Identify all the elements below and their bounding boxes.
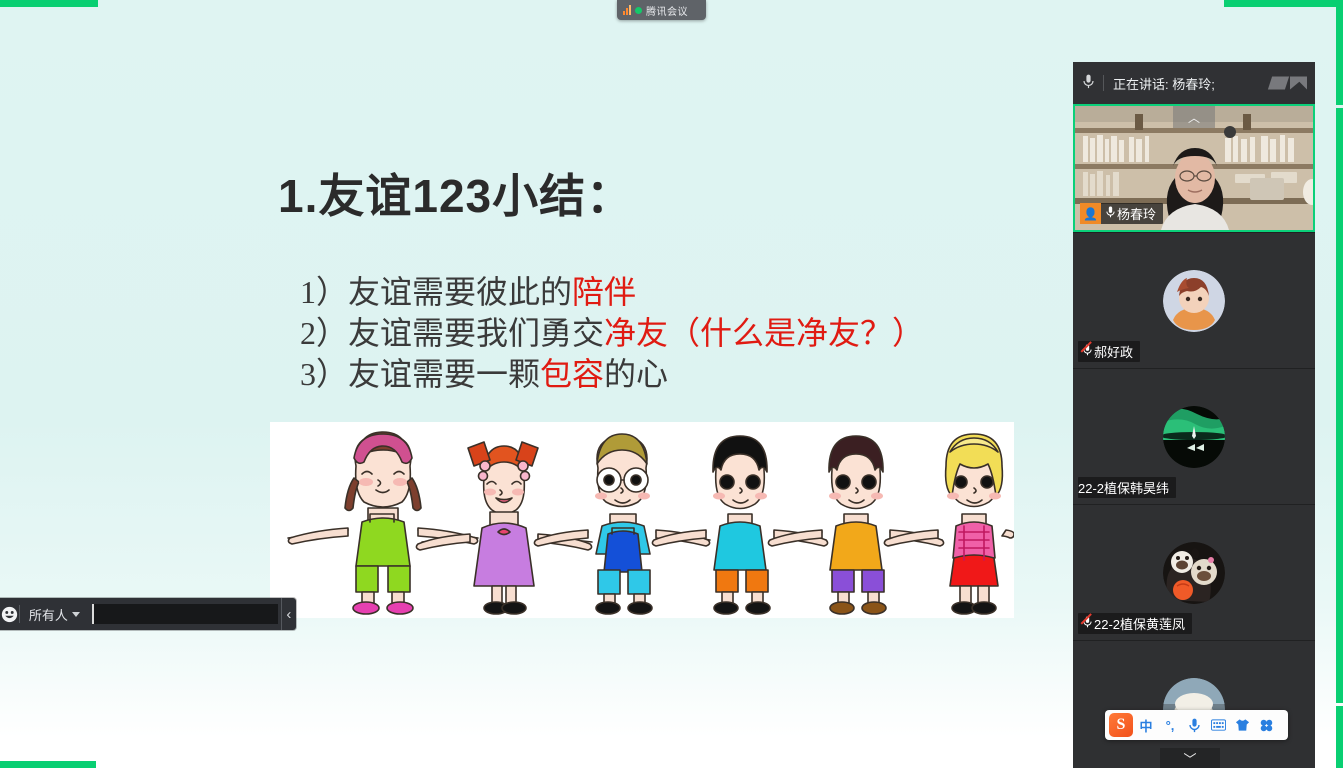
share-frame-segment bbox=[0, 761, 96, 768]
avatar bbox=[1163, 270, 1225, 332]
chat-input-bar: 所有人 ‹ bbox=[0, 598, 296, 630]
bullet-highlight: 陪伴 bbox=[572, 274, 636, 310]
bullet-row: 3）友谊需要一颗包容的心 bbox=[300, 354, 924, 395]
bullet-index: 3） bbox=[300, 356, 348, 392]
participant-name-badge: 👤 杨春玲 bbox=[1080, 203, 1163, 224]
chevron-down-icon[interactable]: ﹀ bbox=[1160, 748, 1220, 768]
soft-keyboard-icon[interactable] bbox=[1207, 713, 1229, 737]
microphone-muted-icon bbox=[1078, 344, 1094, 359]
bullet-row: 2）友谊需要我们勇交净友（什么是净友？） bbox=[300, 313, 924, 354]
chat-message-input[interactable] bbox=[92, 604, 278, 624]
avatar bbox=[1163, 406, 1225, 468]
smiley-face-icon[interactable] bbox=[0, 606, 19, 623]
participant-tile[interactable]: 22-2植保韩昊纬 bbox=[1073, 368, 1315, 504]
app-grid-icon[interactable] bbox=[1255, 713, 1277, 737]
participant-rail: 正在讲话: 杨春玲; bbox=[1073, 62, 1315, 768]
chevron-down-icon bbox=[72, 612, 80, 617]
rail-header: 正在讲话: 杨春玲; bbox=[1073, 62, 1315, 104]
participant-tile[interactable]: 郝好政 bbox=[1073, 232, 1315, 368]
tencent-meeting-app-pill[interactable]: 腾讯会议 bbox=[617, 0, 706, 20]
participant-tile-active-speaker[interactable]: ︿ 👤 杨春玲 bbox=[1073, 104, 1315, 232]
slide-title: 1.友谊123小结： bbox=[278, 160, 633, 226]
participant-name: 杨春玲 bbox=[1117, 204, 1156, 223]
chat-recipient-dropdown[interactable]: 所有人 bbox=[20, 605, 89, 624]
bullet-text: 友谊需要一颗 bbox=[348, 356, 540, 392]
minimize-window-icon[interactable] bbox=[1290, 77, 1307, 90]
slide-bullet-list: 1）友谊需要彼此的陪伴 2）友谊需要我们勇交净友（什么是净友？） 3）友谊需要一… bbox=[300, 272, 924, 395]
share-frame-segment bbox=[1336, 108, 1343, 703]
app-pill-label: 腾讯会议 bbox=[646, 3, 688, 18]
share-frame-segment bbox=[0, 0, 98, 7]
signal-bars-icon bbox=[623, 5, 631, 15]
bullet-highlight: 包容 bbox=[540, 356, 604, 392]
participant-name: 22-2植保黄莲凤 bbox=[1094, 614, 1185, 633]
chat-recipient-label: 所有人 bbox=[29, 605, 68, 624]
slide-illustration bbox=[270, 422, 1014, 618]
window-controls[interactable] bbox=[1270, 77, 1307, 90]
share-frame-segment bbox=[1336, 0, 1343, 105]
bullet-row: 1）友谊需要彼此的陪伴 bbox=[300, 272, 924, 313]
avatar bbox=[1163, 542, 1225, 604]
bullet-index: 1） bbox=[300, 274, 348, 310]
bullet-text: 友谊需要彼此的 bbox=[348, 274, 572, 310]
active-speaker-label: 正在讲话: 杨春玲; bbox=[1113, 74, 1215, 93]
share-frame-segment bbox=[1224, 0, 1343, 7]
bullet-index: 2） bbox=[300, 315, 348, 351]
chinese-mode-button[interactable]: 中 bbox=[1135, 713, 1157, 737]
sogou-ime-toolbar[interactable]: S 中 °, bbox=[1105, 710, 1288, 740]
participant-name: 22-2植保韩昊纬 bbox=[1078, 478, 1169, 497]
microphone-icon bbox=[1083, 74, 1094, 92]
skin-shirt-icon[interactable] bbox=[1231, 713, 1253, 737]
participant-name-badge: 郝好政 bbox=[1078, 341, 1140, 362]
voice-input-icon[interactable] bbox=[1183, 713, 1205, 737]
green-status-dot-icon bbox=[635, 7, 642, 14]
restore-window-icon[interactable] bbox=[1268, 77, 1289, 90]
host-person-icon: 👤 bbox=[1080, 203, 1101, 224]
bullet-highlight: 净友（什么是净友？） bbox=[604, 315, 924, 351]
share-frame-segment bbox=[1336, 706, 1343, 768]
chat-collapse-button[interactable]: ‹ bbox=[281, 598, 296, 630]
bullet-text: 友谊需要我们勇交 bbox=[348, 315, 604, 351]
microphone-muted-icon bbox=[1078, 616, 1094, 631]
chevron-up-icon[interactable]: ︿ bbox=[1173, 106, 1215, 128]
bullet-text-after: 的心 bbox=[604, 356, 668, 392]
participant-name: 郝好政 bbox=[1094, 342, 1133, 361]
participant-name-badge: 22-2植保黄莲凤 bbox=[1078, 613, 1192, 634]
divider bbox=[1103, 75, 1104, 91]
participant-name-badge: 22-2植保韩昊纬 bbox=[1078, 477, 1176, 498]
participant-tile[interactable]: 22-2植保黄莲凤 bbox=[1073, 504, 1315, 640]
sogou-ime-logo[interactable]: S bbox=[1109, 713, 1133, 737]
punctuation-mode-button[interactable]: °, bbox=[1159, 713, 1181, 737]
microphone-icon bbox=[1101, 206, 1117, 221]
